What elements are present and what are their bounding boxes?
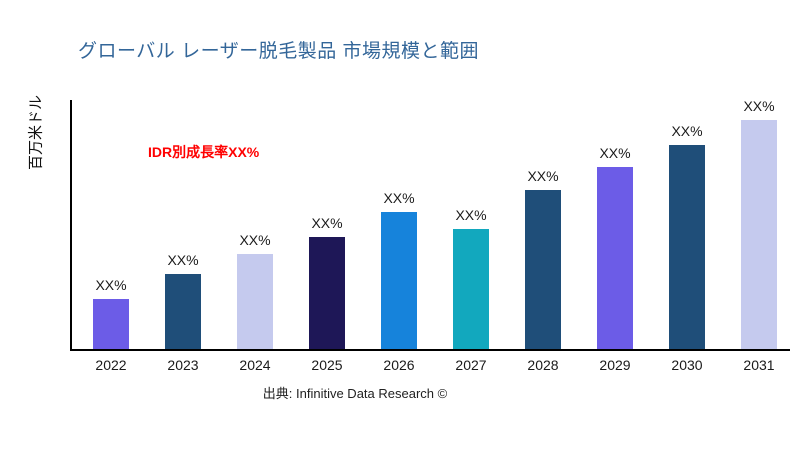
bar-value-label-2025: XX%	[311, 215, 342, 231]
x-tick-2024: 2024	[220, 357, 291, 373]
bar-slot: XX%	[436, 100, 507, 349]
bar-2022[interactable]	[93, 299, 129, 349]
bar-slot: XX%	[292, 100, 363, 349]
bar-chart: グローバル レーザー脱毛製品 市場規模と範囲 百万米ドル IDR別成長率XX% …	[0, 0, 800, 450]
bar-value-label-2027: XX%	[455, 207, 486, 223]
bar-2029[interactable]	[597, 167, 633, 349]
bar-2024[interactable]	[237, 254, 273, 349]
bar-2026[interactable]	[381, 212, 417, 349]
y-axis-line	[70, 100, 72, 351]
bar-slot: XX%	[364, 100, 435, 349]
bar-slot: XX%	[220, 100, 291, 349]
bar-value-label-2023: XX%	[167, 252, 198, 268]
x-tick-2025: 2025	[292, 357, 363, 373]
bar-slot: XX%	[724, 100, 795, 349]
bar-2025[interactable]	[309, 237, 345, 349]
x-axis-line	[70, 349, 790, 351]
x-tick-2030: 2030	[652, 357, 723, 373]
x-tick-2028: 2028	[508, 357, 579, 373]
chart-title: グローバル レーザー脱毛製品 市場規模と範囲	[78, 36, 479, 63]
bar-value-label-2024: XX%	[239, 232, 270, 248]
bar-2031[interactable]	[741, 120, 777, 349]
bar-slot: XX%	[76, 100, 147, 349]
bar-2023[interactable]	[165, 274, 201, 349]
bar-value-label-2030: XX%	[671, 123, 702, 139]
plot-area: XX%XX%XX%XX%XX%XX%XX%XX%XX%XX%	[70, 100, 790, 351]
x-tick-2029: 2029	[580, 357, 651, 373]
y-axis-label: 百万米ドル	[25, 78, 46, 188]
bar-value-label-2031: XX%	[743, 98, 774, 114]
bar-2030[interactable]	[669, 145, 705, 349]
bar-value-label-2022: XX%	[95, 277, 126, 293]
x-tick-2031: 2031	[724, 357, 795, 373]
bar-2028[interactable]	[525, 190, 561, 349]
bar-slot: XX%	[580, 100, 651, 349]
bar-value-label-2029: XX%	[599, 145, 630, 161]
bar-slot: XX%	[148, 100, 219, 349]
bar-value-label-2028: XX%	[527, 168, 558, 184]
x-tick-2027: 2027	[436, 357, 507, 373]
bar-value-label-2026: XX%	[383, 190, 414, 206]
bar-slot: XX%	[508, 100, 579, 349]
source-note: 出典: Infinitive Data Research ©	[0, 383, 710, 402]
bar-slot: XX%	[652, 100, 723, 349]
x-tick-2026: 2026	[364, 357, 435, 373]
bar-2027[interactable]	[453, 229, 489, 349]
x-tick-2022: 2022	[76, 357, 147, 373]
x-tick-2023: 2023	[148, 357, 219, 373]
